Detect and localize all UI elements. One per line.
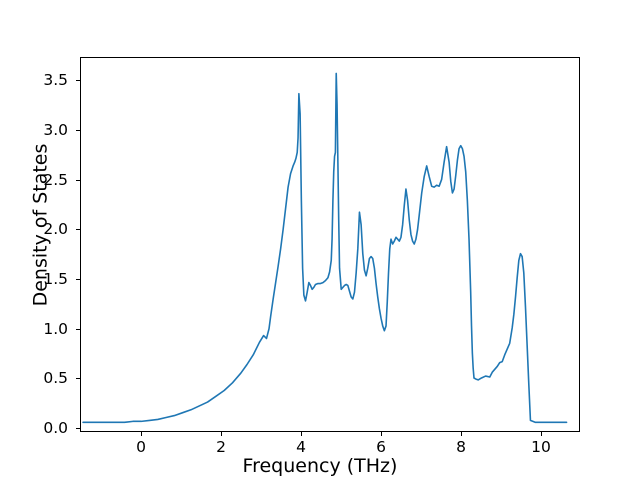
xtick-label-6: 6 xyxy=(376,438,386,456)
xtick-mark xyxy=(541,432,542,436)
ytick-mark xyxy=(76,130,80,131)
matplotlib-figure: 0 2 4 6 8 10 0.0 0.5 1.0 1.5 2.0 2.5 3.0… xyxy=(0,0,640,480)
plot-axes-area xyxy=(80,57,580,432)
ytick-mark xyxy=(76,80,80,81)
xtick-mark xyxy=(381,432,382,436)
y-axis-label: Density of States xyxy=(30,38,52,413)
ytick-mark xyxy=(76,229,80,230)
xtick-label-0: 0 xyxy=(136,438,146,456)
xtick-mark xyxy=(301,432,302,436)
xtick-label-10: 10 xyxy=(531,438,551,456)
x-axis-label: Frequency (THz) xyxy=(0,455,640,477)
ytick-mark xyxy=(76,279,80,280)
xtick-label-2: 2 xyxy=(216,438,226,456)
dos-curve xyxy=(81,58,579,431)
xtick-label-4: 4 xyxy=(296,438,306,456)
ytick-label-0-0: 0.0 xyxy=(43,419,68,437)
xtick-label-8: 8 xyxy=(456,438,466,456)
xtick-mark xyxy=(461,432,462,436)
ytick-mark xyxy=(76,180,80,181)
ytick-mark xyxy=(76,428,80,429)
xtick-mark xyxy=(221,432,222,436)
ytick-mark xyxy=(76,329,80,330)
xtick-mark xyxy=(141,432,142,436)
ytick-mark xyxy=(76,378,80,379)
